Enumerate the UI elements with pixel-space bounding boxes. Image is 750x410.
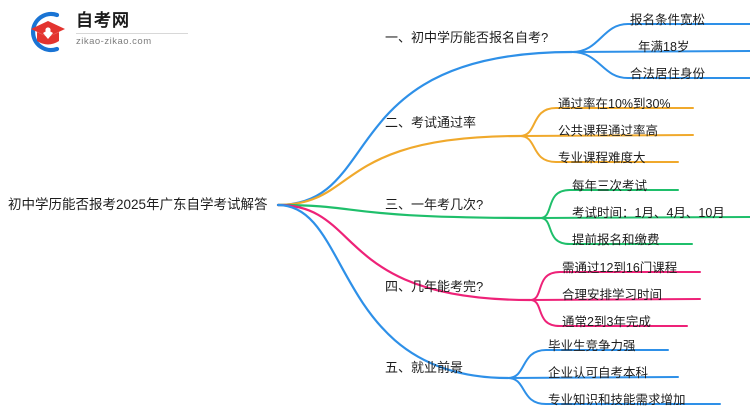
mindmap-leaf-node-2-3[interactable]: 专业课程难度大 xyxy=(558,152,646,165)
mindmap-leaf-node-2-2[interactable]: 公共课程通过率高 xyxy=(558,125,658,138)
mindmap-canvas: 自考网 zikao-zikao.com 初中学历能否报考2025年广东自学考试解… xyxy=(0,0,750,410)
mindmap-leaf-node-2-1[interactable]: 通过率在10%到30% xyxy=(558,98,671,111)
mindmap-leaf-node-5-2[interactable]: 企业认可自考本科 xyxy=(548,367,648,380)
mindmap-leaf-node-3-1[interactable]: 每年三次考试 xyxy=(572,180,647,193)
mindmap-branch-node-3[interactable]: 三、一年考几次? xyxy=(385,198,483,211)
mindmap-leaf-node-3-3[interactable]: 提前报名和缴费 xyxy=(572,234,660,247)
mindmap-leaf-node-4-1[interactable]: 需通过12到16门课程 xyxy=(562,262,677,275)
mindmap-root-node[interactable]: 初中学历能否报考2025年广东自学考试解答 xyxy=(8,198,268,212)
mindmap-leaf-node-1-2[interactable]: 年满18岁 xyxy=(638,41,689,54)
mindmap-leaf-node-5-1[interactable]: 毕业生竞争力强 xyxy=(548,340,636,353)
mindmap-edge xyxy=(278,136,520,205)
mindmap-branch-node-4[interactable]: 四、几年能考完? xyxy=(385,280,483,293)
mindmap-branch-node-1[interactable]: 一、初中学历能否报名自考? xyxy=(385,31,548,44)
mindmap-branch-node-5[interactable]: 五、就业前景 xyxy=(385,361,463,374)
mindmap-leaf-node-4-3[interactable]: 通常2到3年完成 xyxy=(562,316,651,329)
mindmap-leaf-node-3-2[interactable]: 考试时间：1月、4月、10月 xyxy=(572,207,725,220)
mindmap-leaf-node-5-3[interactable]: 专业知识和技能需求增加 xyxy=(548,394,686,407)
mindmap-branch-node-2[interactable]: 二、考试通过率 xyxy=(385,116,476,129)
mindmap-leaf-node-4-2[interactable]: 合理安排学习时间 xyxy=(562,289,662,302)
mindmap-leaf-node-1-3[interactable]: 合法居住身份 xyxy=(630,68,705,81)
mindmap-leaf-node-1-1[interactable]: 报名条件宽松 xyxy=(630,14,705,27)
